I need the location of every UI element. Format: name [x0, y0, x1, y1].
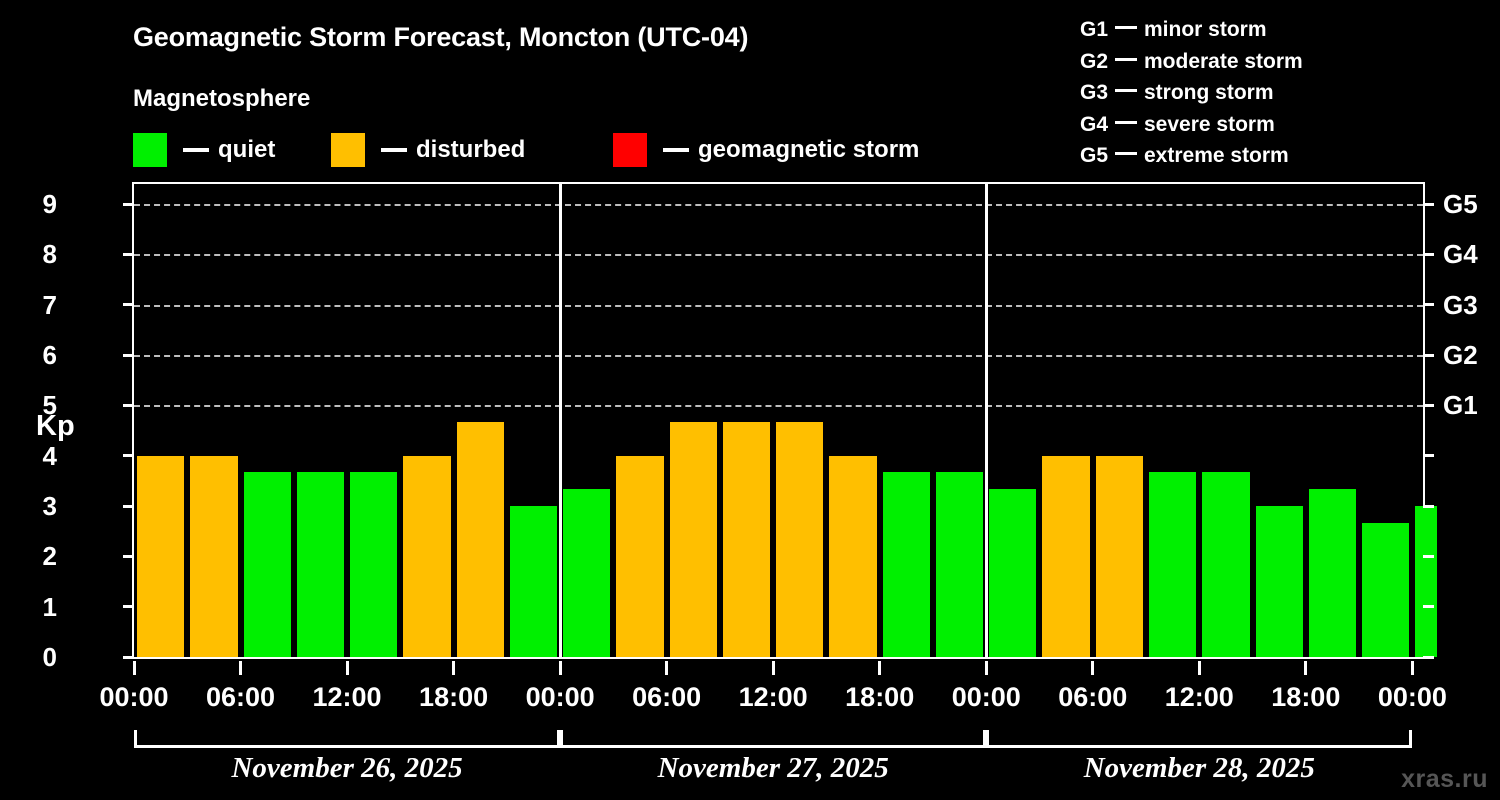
- x-tick-label: 06:00: [1058, 682, 1127, 713]
- y-tick-6: [1423, 354, 1434, 357]
- bar: [936, 472, 983, 657]
- chart-subtitle: Magnetosphere: [133, 85, 310, 113]
- x-tick-label: 00:00: [99, 682, 168, 713]
- g-legend-row-g5: G5extreme storm: [1080, 140, 1303, 172]
- y-tick-7: [123, 303, 134, 306]
- legend-dash-icon: [381, 148, 407, 152]
- y-tick-9: [123, 203, 134, 206]
- legend-label-storm: geomagnetic storm: [698, 138, 919, 162]
- bar: [137, 456, 184, 657]
- g-legend-dash-icon: [1115, 58, 1137, 61]
- day-label: November 26, 2025: [231, 752, 462, 785]
- y-tick-5: [123, 404, 134, 407]
- g-legend-code: G5: [1080, 140, 1110, 172]
- bar: [1309, 489, 1356, 657]
- g-tick-label-g4: G4: [1443, 241, 1500, 267]
- x-tick: [665, 661, 668, 675]
- bar: [1202, 472, 1249, 657]
- bar: [1415, 506, 1437, 657]
- bar: [1042, 456, 1089, 657]
- y-tick-1: [1423, 605, 1434, 608]
- bar: [1256, 506, 1303, 657]
- legend-item-storm: geomagnetic storm: [613, 133, 919, 167]
- x-tick: [1304, 661, 1307, 675]
- g-tick-label-g2: G2: [1443, 342, 1500, 368]
- legend-swatch-quiet: [133, 133, 167, 167]
- g-legend-text: minor storm: [1144, 18, 1267, 41]
- bar: [776, 422, 823, 657]
- y-tick-6: [123, 354, 134, 357]
- x-tick: [133, 661, 136, 675]
- y-tick-8: [1423, 253, 1434, 256]
- legend-label-quiet: quiet: [218, 138, 275, 162]
- x-tick-label: 00:00: [952, 682, 1021, 713]
- y-tick-9: [1423, 203, 1434, 206]
- bar: [1362, 523, 1409, 657]
- x-tick-label: 06:00: [632, 682, 701, 713]
- y-tick-7: [1423, 303, 1434, 306]
- bar: [510, 506, 557, 657]
- y-tick-label-6: 6: [17, 342, 57, 368]
- day-bracket: [134, 730, 560, 748]
- x-tick-label: 12:00: [739, 682, 808, 713]
- bar: [350, 472, 397, 657]
- g-legend-row-g2: G2moderate storm: [1080, 46, 1303, 78]
- y-tick-4: [123, 454, 134, 457]
- g-legend-row-g4: G4severe storm: [1080, 109, 1303, 141]
- plot-area: [132, 182, 1425, 659]
- x-tick: [772, 661, 775, 675]
- watermark: xras.ru: [1401, 765, 1488, 794]
- g-legend-dash-icon: [1115, 121, 1137, 124]
- y-tick-2: [123, 555, 134, 558]
- g-legend-code: G4: [1080, 109, 1110, 141]
- bar: [989, 489, 1036, 657]
- legend-swatch-disturbed: [331, 133, 365, 167]
- day-separator: [559, 184, 562, 657]
- bar: [616, 456, 663, 657]
- x-tick: [239, 661, 242, 675]
- x-tick: [878, 661, 881, 675]
- x-tick-label: 18:00: [419, 682, 488, 713]
- bar: [1096, 456, 1143, 657]
- page-title: Geomagnetic Storm Forecast, Moncton (UTC…: [133, 22, 748, 53]
- g-tick-label-g1: G1: [1443, 392, 1500, 418]
- bar: [883, 472, 930, 657]
- x-tick: [1091, 661, 1094, 675]
- x-tick: [1198, 661, 1201, 675]
- bar: [563, 489, 610, 657]
- g-legend-text: extreme storm: [1144, 144, 1289, 167]
- y-tick-label-3: 3: [17, 493, 57, 519]
- g-legend-code: G3: [1080, 77, 1110, 109]
- g-legend-code: G2: [1080, 46, 1110, 78]
- legend-dash-icon: [663, 148, 689, 152]
- y-tick-label-0: 0: [17, 644, 57, 670]
- x-tick-label: 12:00: [313, 682, 382, 713]
- x-tick-label: 00:00: [1378, 682, 1447, 713]
- bar: [829, 456, 876, 657]
- legend-label-disturbed: disturbed: [416, 138, 525, 162]
- g-legend-dash-icon: [1115, 152, 1137, 155]
- x-tick-label: 00:00: [526, 682, 595, 713]
- bar: [723, 422, 770, 657]
- y-tick-label-9: 9: [17, 191, 57, 217]
- bar: [1149, 472, 1196, 657]
- g-legend-row-g3: G3strong storm: [1080, 77, 1303, 109]
- y-tick-3: [123, 505, 134, 508]
- bar: [244, 472, 291, 657]
- g-legend-text: severe storm: [1144, 113, 1275, 136]
- legend-item-disturbed: disturbed: [331, 133, 525, 167]
- y-tick-label-8: 8: [17, 241, 57, 267]
- bar-series: [134, 184, 1423, 657]
- x-tick-label: 12:00: [1165, 682, 1234, 713]
- g-legend-text: moderate storm: [1144, 50, 1303, 73]
- legend-dash-icon: [183, 148, 209, 152]
- g-tick-label-g3: G3: [1443, 292, 1500, 318]
- legend-item-quiet: quiet: [133, 133, 275, 167]
- legend-swatch-storm: [613, 133, 647, 167]
- day-bracket: [986, 730, 1412, 748]
- y-tick-0: [1423, 656, 1434, 659]
- x-tick: [1411, 661, 1414, 675]
- y-tick-8: [123, 253, 134, 256]
- y-tick-3: [1423, 505, 1434, 508]
- bar: [403, 456, 450, 657]
- y-tick-label-5: 5: [17, 392, 57, 418]
- x-tick: [559, 661, 562, 675]
- y-tick-label-1: 1: [17, 594, 57, 620]
- day-label: November 28, 2025: [1084, 752, 1315, 785]
- day-separator: [985, 184, 988, 657]
- g-scale-legend: G1minor stormG2moderate stormG3strong st…: [1080, 14, 1303, 172]
- g-legend-text: strong storm: [1144, 81, 1274, 104]
- chart-canvas: Geomagnetic Storm Forecast, Moncton (UTC…: [0, 0, 1500, 800]
- y-tick-label-7: 7: [17, 292, 57, 318]
- y-tick-2: [1423, 555, 1434, 558]
- g-legend-code: G1: [1080, 14, 1110, 46]
- g-tick-label-g5: G5: [1443, 191, 1500, 217]
- day-label: November 27, 2025: [658, 752, 889, 785]
- x-tick-label: 18:00: [845, 682, 914, 713]
- y-tick-0: [123, 656, 134, 659]
- day-bracket: [560, 730, 986, 748]
- y-tick-4: [1423, 454, 1434, 457]
- bar: [670, 422, 717, 657]
- x-tick: [346, 661, 349, 675]
- bar: [190, 456, 237, 657]
- bar: [297, 472, 344, 657]
- y-tick-label-2: 2: [17, 543, 57, 569]
- x-tick: [452, 661, 455, 675]
- y-tick-5: [1423, 404, 1434, 407]
- g-legend-row-g1: G1minor storm: [1080, 14, 1303, 46]
- x-tick-label: 06:00: [206, 682, 275, 713]
- g-legend-dash-icon: [1115, 89, 1137, 92]
- g-legend-dash-icon: [1115, 26, 1137, 29]
- x-tick-label: 18:00: [1271, 682, 1340, 713]
- y-tick-1: [123, 605, 134, 608]
- x-tick: [985, 661, 988, 675]
- y-tick-label-4: 4: [17, 443, 57, 469]
- bar: [457, 422, 504, 657]
